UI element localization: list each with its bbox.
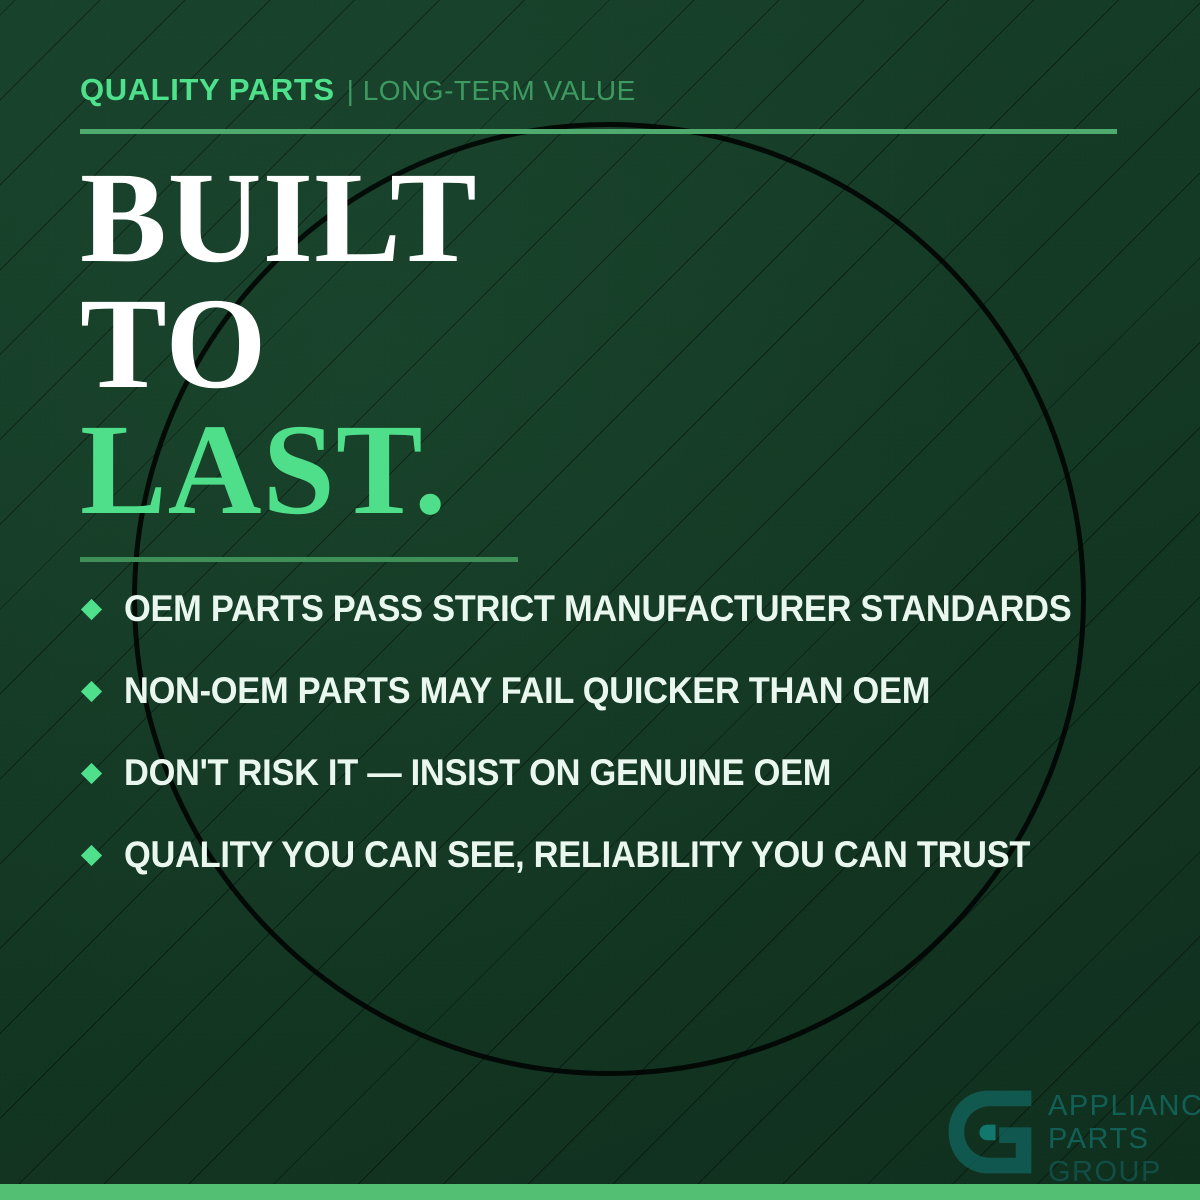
diamond-bullet-icon [81,598,102,619]
list-item-label: OEM PARTS PASS STRICT MANUFACTURER STAND… [124,588,1071,630]
list-item: NON-OEM PARTS MAY FAIL QUICKER THAN OEM [80,668,1150,714]
diamond-bullet-icon [81,680,102,701]
headline-underline-rule [80,557,518,562]
list-item-label: DON'T RISK IT — INSIST ON GENUINE OEM [124,752,831,794]
brand-logo: APPLIANCE PARTS GROUP [944,1086,1200,1191]
brand-line-group: GROUP [1048,1158,1200,1187]
benefits-list: OEM PARTS PASS STRICT MANUFACTURER STAND… [80,586,1150,878]
headline-line-3: LAST. [80,407,478,533]
list-item-label: QUALITY YOU CAN SEE, RELIABILITY YOU CAN… [124,834,1030,876]
brand-line-appliance: APPLIANCE [1048,1092,1200,1121]
header-divider-rule [80,129,1117,134]
eyebrow-header: QUALITY PARTS | LONG-TERM VALUE [80,72,636,108]
diamond-bullet-icon [81,762,102,783]
brand-line-parts: PARTS [1048,1125,1200,1154]
headline-line-1: BUILT [80,155,478,281]
headline-line-2: TO [80,281,478,407]
bottom-accent-bar [0,1184,1200,1200]
eyebrow-title: QUALITY PARTS [80,72,335,108]
g-monogram-icon [944,1086,1036,1178]
list-item: OEM PARTS PASS STRICT MANUFACTURER STAND… [80,586,1150,632]
brand-logo-wordmark: APPLIANCE PARTS GROUP [1048,1086,1200,1191]
list-item-label: NON-OEM PARTS MAY FAIL QUICKER THAN OEM [124,670,930,712]
diamond-bullet-icon [81,844,102,865]
page-title: BUILT TO LAST. [80,155,478,533]
list-item: DON'T RISK IT — INSIST ON GENUINE OEM [80,750,1150,796]
poster-canvas: QUALITY PARTS | LONG-TERM VALUE BUILT TO… [0,0,1200,1200]
list-item: QUALITY YOU CAN SEE, RELIABILITY YOU CAN… [80,832,1150,878]
eyebrow-subtitle: | LONG-TERM VALUE [347,75,636,107]
